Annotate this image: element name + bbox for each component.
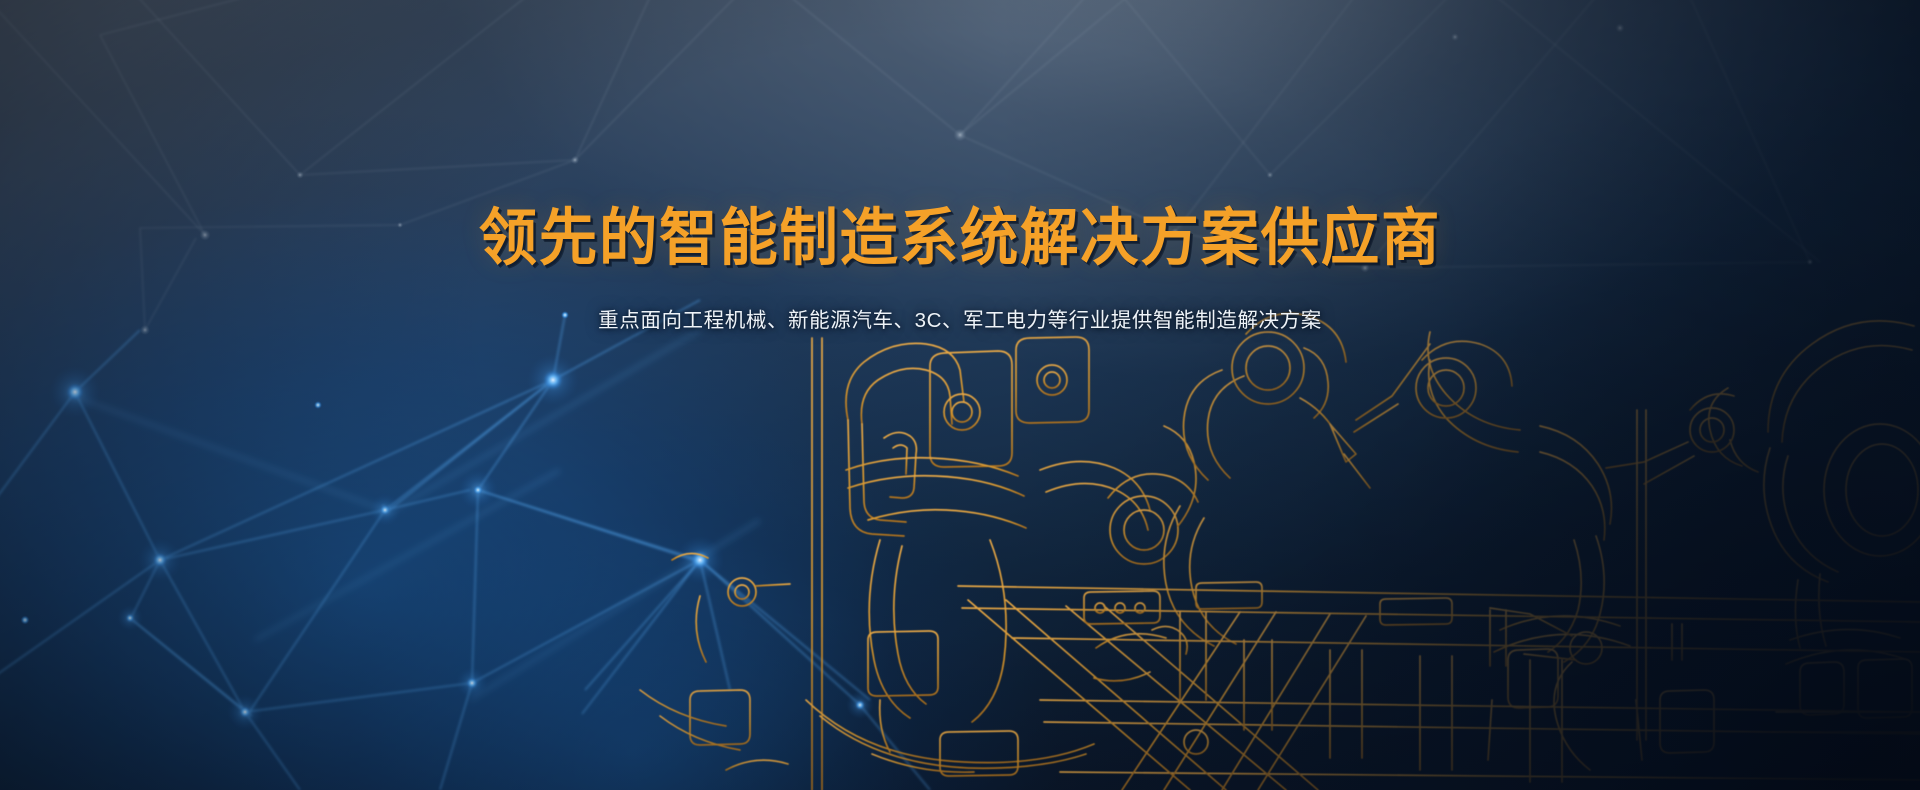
hero-text-block: 领先的智能制造系统解决方案供应商 重点面向工程机械、新能源汽车、3C、军工电力等… xyxy=(0,205,1920,333)
background-vignette xyxy=(0,0,1920,790)
page-title: 领先的智能制造系统解决方案供应商 xyxy=(58,205,1863,273)
page-subtitle: 重点面向工程机械、新能源汽车、3C、军工电力等行业提供智能制造解决方案 xyxy=(0,303,1920,333)
hero-banner: 领先的智能制造系统解决方案供应商 重点面向工程机械、新能源汽车、3C、军工电力等… xyxy=(0,0,1920,790)
